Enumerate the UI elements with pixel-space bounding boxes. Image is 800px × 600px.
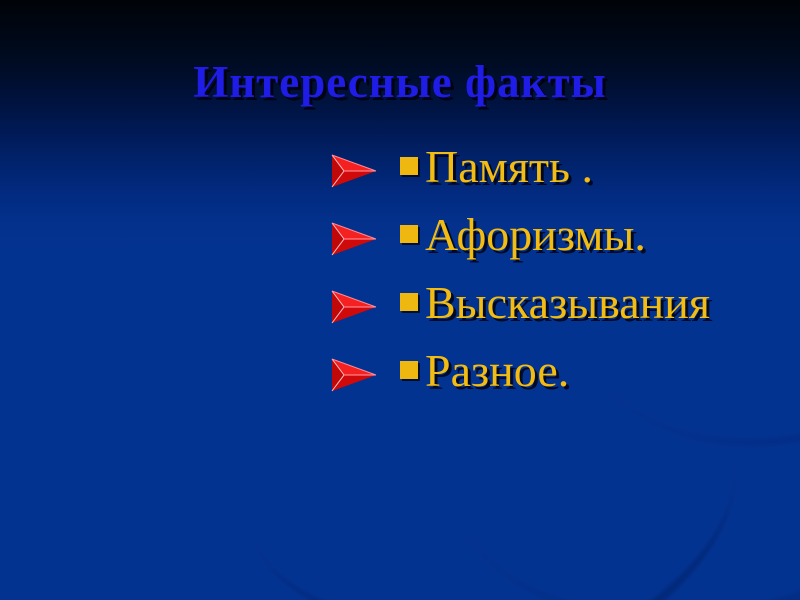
slide-title: Интересные факты	[0, 56, 800, 108]
list-item: Разное.	[330, 342, 800, 410]
list-item: Память .	[330, 138, 800, 206]
gold-square-bullet-icon	[400, 361, 418, 379]
red-arrow-icon	[330, 290, 378, 324]
presentation-slide: Интересные факты Память .	[0, 0, 800, 600]
gold-square-bullet-icon	[400, 293, 418, 311]
list-item-label: Афоризмы.	[425, 204, 646, 266]
bullet-list: Память . Афоризмы.	[330, 138, 800, 410]
list-item-label: Высказывания	[425, 272, 710, 334]
list-item: Афоризмы.	[330, 206, 800, 274]
gold-square-bullet-icon	[400, 157, 418, 175]
list-item-label: Разное.	[425, 340, 569, 402]
red-arrow-icon	[330, 154, 378, 188]
list-item: Высказывания	[330, 274, 800, 342]
red-arrow-icon	[330, 358, 378, 392]
list-item-label: Память .	[425, 136, 593, 198]
gold-square-bullet-icon	[400, 225, 418, 243]
red-arrow-icon	[330, 222, 378, 256]
